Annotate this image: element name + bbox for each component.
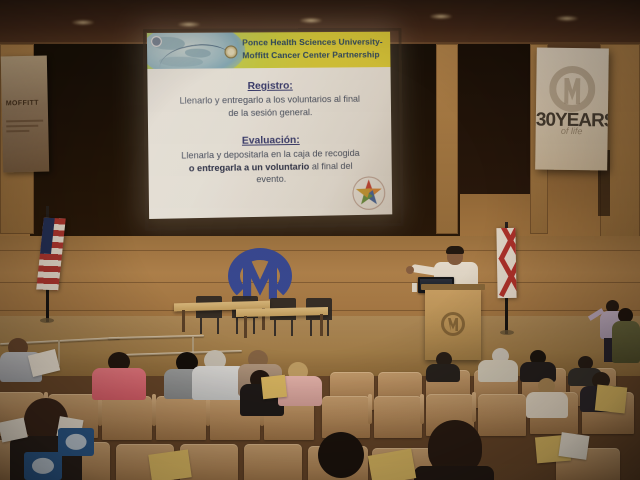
- moffitt-wall-banner: MOFFITT: [1, 56, 49, 173]
- flag-base: [40, 318, 54, 323]
- chair-leg: [253, 318, 255, 334]
- water-cup-icon: [412, 283, 417, 292]
- section-heading-evaluacion: Evaluación:: [159, 133, 381, 148]
- attendee-body: [414, 466, 494, 480]
- auditorium-seat: [374, 396, 422, 438]
- yellow-folder: [148, 449, 192, 480]
- table-leg: [182, 310, 185, 332]
- yellow-folder: [595, 385, 628, 414]
- florida-flag: [496, 228, 516, 298]
- slide-title: Ponce Health Sciences University- Moffit…: [242, 36, 386, 63]
- ceiling-light-icon: [430, 14, 452, 19]
- table-leg: [244, 316, 247, 338]
- moffitt-m-circle-icon: [549, 66, 596, 113]
- blue-tote-bag: [24, 452, 62, 480]
- phsu-badge-icon: [151, 36, 162, 47]
- seat-divider: [368, 394, 372, 424]
- presentation-slide: Ponce Health Sciences University- Moffit…: [147, 32, 392, 219]
- attendee-body: [478, 360, 518, 382]
- lectern: [425, 288, 481, 360]
- moffitt-m-circle-icon: [441, 312, 465, 336]
- auditorium-seat: [156, 396, 206, 440]
- seat-divider: [472, 392, 476, 422]
- presenter-hair: [446, 246, 464, 254]
- thirty-years-script: of life: [536, 125, 608, 136]
- slide-header: Ponce Health Sciences University- Moffit…: [147, 32, 391, 69]
- ceiling-light-icon: [300, 18, 322, 23]
- chair-leg: [310, 320, 312, 336]
- wall-dark-panel: [452, 44, 536, 194]
- attendee-body: [526, 392, 568, 418]
- seat-divider: [152, 394, 156, 426]
- auditorium-seat: [244, 444, 302, 480]
- flag-base: [500, 330, 514, 335]
- section-line-bold: o entregarla a un voluntario: [189, 161, 310, 173]
- wall-seam: [0, 250, 640, 251]
- star-partnership-logo-icon: [352, 176, 385, 210]
- slide-body: Registro: Llenarlo y entregarlo a los vo…: [147, 67, 392, 219]
- ceiling-light-icon: [72, 20, 94, 25]
- chair-leg: [327, 320, 329, 336]
- wall-seam: [0, 282, 640, 283]
- attendee-pink-shirt: [92, 368, 146, 400]
- florida-flag-cross: [496, 228, 516, 298]
- university-seal-icon: [224, 45, 237, 58]
- moffitt-banner-text-lines: [6, 120, 43, 136]
- slide-title-line1: Ponce Health Sciences University-: [242, 36, 385, 50]
- seat-divider: [420, 394, 424, 424]
- yellow-folder: [261, 375, 287, 399]
- table-leg: [320, 314, 323, 336]
- chair-leg: [236, 318, 238, 334]
- auditorium-photo: MOFFITT 30YEARS of life Ponce Health: [0, 0, 640, 480]
- section-line: Llenarlo y entregarlo a los voluntarios …: [159, 93, 381, 108]
- attendee-head: [318, 432, 364, 478]
- chair-leg: [217, 318, 219, 334]
- auditorium-seat: [102, 396, 152, 440]
- chair-leg: [274, 320, 276, 336]
- presenter-hand: [406, 266, 414, 274]
- section-heading-registro: Registro:: [158, 79, 380, 93]
- moffitt-banner-logo: MOFFITT: [6, 100, 44, 113]
- chair-leg: [291, 320, 293, 336]
- thirty-years-banner: 30YEARS of life: [535, 48, 609, 171]
- ceiling-light-icon: [556, 16, 578, 21]
- wall-panel: [436, 44, 458, 234]
- slide-title-line2: Moffitt Cancer Center Partnership: [242, 48, 385, 62]
- handout-paper: [558, 432, 589, 460]
- lectern-top: [421, 284, 485, 290]
- auditorium-seat: [478, 394, 526, 436]
- section-line-tail: al final del: [309, 160, 352, 171]
- ceiling-light-icon: [178, 22, 200, 27]
- blue-tote-bag: [58, 428, 94, 456]
- attendee-body: [426, 364, 460, 382]
- projection-screen: Ponce Health Sciences University- Moffit…: [147, 32, 392, 219]
- us-flag-canton: [40, 218, 55, 254]
- chair-leg: [200, 318, 202, 334]
